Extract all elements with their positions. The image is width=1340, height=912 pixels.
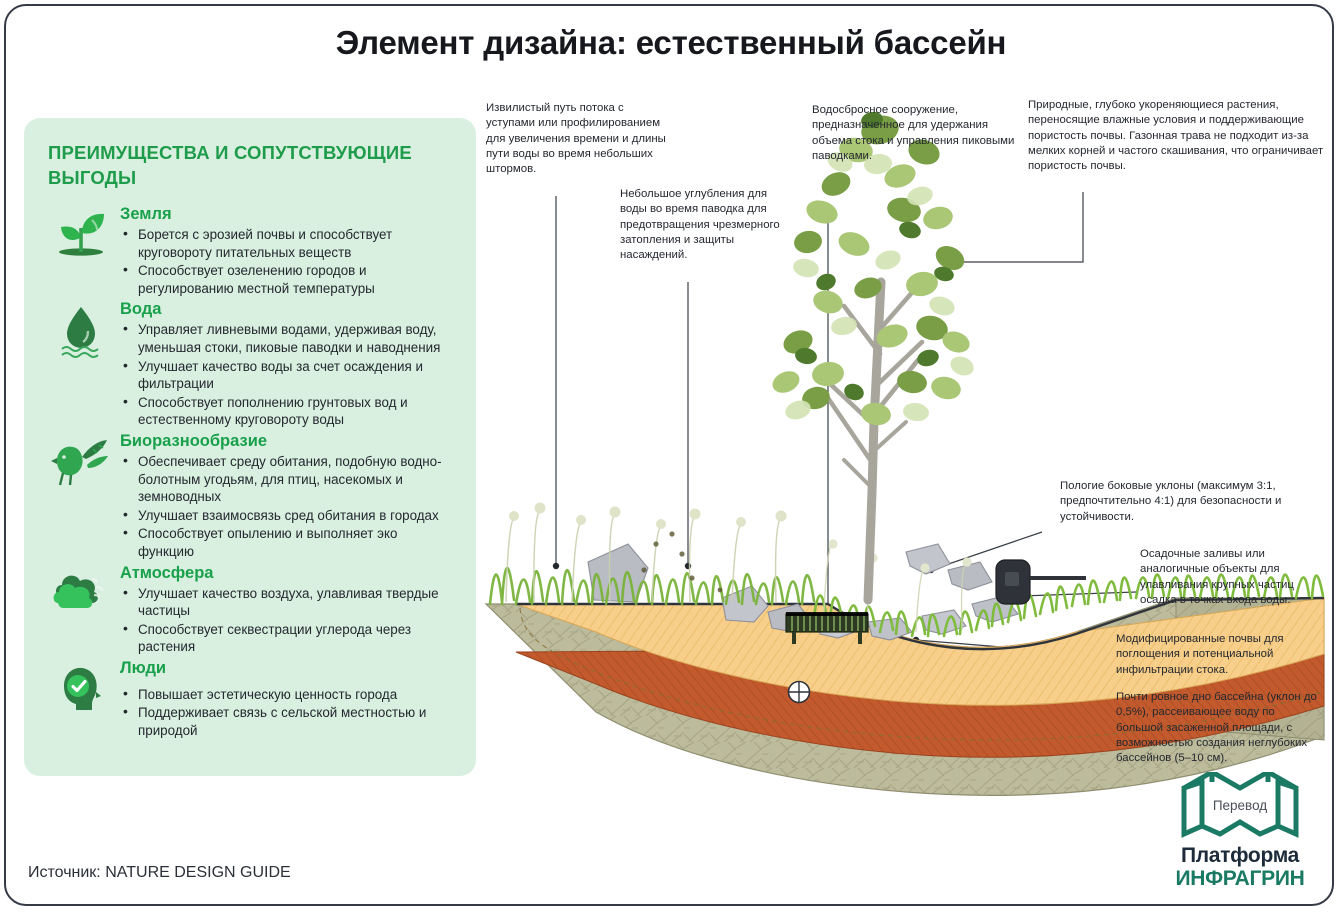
benefits-panel: ПРЕИМУЩЕСТВА И СОПУТСТВУЮЩИЕ ВЫГОДЫ Земл… bbox=[24, 118, 476, 776]
annotation-modified-soils: Модифицированные почвы для поглощения и … bbox=[1116, 632, 1316, 678]
tree-illustration bbox=[769, 110, 976, 600]
benefit-bullets: Обеспечивает среду обитания, подобную во… bbox=[120, 453, 454, 561]
annotation-small-depressions: Небольшое углубления для воды во время п… bbox=[620, 187, 788, 263]
bullet: Улучшает взаимосвязь сред обитания в гор… bbox=[120, 507, 454, 525]
bullet: Борется с эрозией почвы и способствует к… bbox=[120, 226, 454, 261]
air-cloud-icon bbox=[42, 563, 120, 657]
annotation-meandering-path: Извилистый путь потока с уступами или пр… bbox=[486, 101, 671, 177]
logo-mark: Перевод bbox=[1172, 772, 1308, 844]
benefit-item-lyudi: Люди Повышает эстетическую ценность горо… bbox=[42, 658, 458, 741]
benefit-title: Биоразнообразие bbox=[120, 431, 454, 451]
annotation-forebay: Осадочные заливы или аналогичные объекты… bbox=[1140, 547, 1330, 608]
source-label: Источник: NATURE DESIGN GUIDE bbox=[28, 864, 291, 882]
sprout-icon bbox=[42, 204, 120, 298]
logo-line-2: ИНФРАГРИН bbox=[1172, 867, 1308, 890]
benefit-bullets: Борется с эрозией почвы и способствует к… bbox=[120, 226, 454, 297]
bullet: Способствует пополнению грунтовых вод и … bbox=[120, 394, 454, 429]
annotation-flat-bottom: Почти ровное дно бассейна (уклон до 0,5%… bbox=[1116, 690, 1322, 766]
bullet: Способствует опылению и выполняет эко фу… bbox=[120, 525, 454, 560]
infographic-card: Элемент дизайна: естественный бассейн ПР… bbox=[4, 4, 1334, 906]
water-drop-icon bbox=[42, 299, 120, 430]
annotation-spillway: Водосбросное сооружение, предназначенное… bbox=[812, 103, 1022, 164]
benefits-panel-heading: ПРЕИМУЩЕСТВА И СОПУТСТВУЮЩИЕ ВЫГОДЫ bbox=[48, 140, 448, 190]
bird-icon bbox=[42, 431, 120, 562]
logo-line-1: Платформа bbox=[1172, 844, 1308, 867]
bullet: Поддерживает связь с сельской местностью… bbox=[120, 704, 454, 739]
page-title: Элемент дизайна: естественный бассейн bbox=[6, 24, 1334, 62]
benefit-bullets: Улучшает качество воздуха, улавливая тве… bbox=[120, 585, 454, 656]
benefit-title: Люди bbox=[120, 658, 454, 678]
benefit-title: Вода bbox=[120, 299, 454, 319]
benefit-title: Земля bbox=[120, 204, 454, 224]
benefit-bullets: Управляет ливневыми водами, удерживая во… bbox=[120, 321, 454, 429]
benefit-title: Атмосфера bbox=[120, 563, 454, 583]
bullet: Управляет ливневыми водами, удерживая во… bbox=[120, 321, 454, 356]
head-check-icon bbox=[42, 658, 120, 741]
benefit-item-voda: Вода Управляет ливневыми водами, удержив… bbox=[42, 299, 458, 430]
bullet: Улучшает качество воздуха, улавливая тве… bbox=[120, 585, 454, 620]
benefit-bullets: Повышает эстетическую ценность города По… bbox=[120, 686, 454, 740]
bullet: Повышает эстетическую ценность города bbox=[120, 686, 454, 704]
logo-badge-text: Перевод bbox=[1213, 798, 1267, 813]
bullet: Улучшает качество воды за счет осаждения… bbox=[120, 358, 454, 393]
annotation-side-slopes: Пологие боковые уклоны (максимум 3:1, пр… bbox=[1060, 479, 1322, 525]
bullet: Способствует озеленению городов и регули… bbox=[120, 262, 454, 297]
annotation-native-plants: Природные, глубоко укореняющиеся растени… bbox=[1028, 98, 1328, 174]
underdrain-pipe-icon bbox=[789, 682, 810, 703]
bullet: Обеспечивает среду обитания, подобную во… bbox=[120, 453, 454, 506]
logo: Перевод Платформа ИНФРАГРИН bbox=[1172, 772, 1308, 890]
bullet: Способствует секвестрации углерода через… bbox=[120, 621, 454, 656]
benefit-item-bioraznoobrazie: Биоразнообразие Обеспечивает среду обита… bbox=[42, 431, 458, 562]
benefit-item-zemlya: Земля Борется с эрозией почвы и способст… bbox=[42, 204, 458, 298]
benefit-item-atmosfera: Атмосфера Улучшает качество воздуха, ула… bbox=[42, 563, 458, 657]
